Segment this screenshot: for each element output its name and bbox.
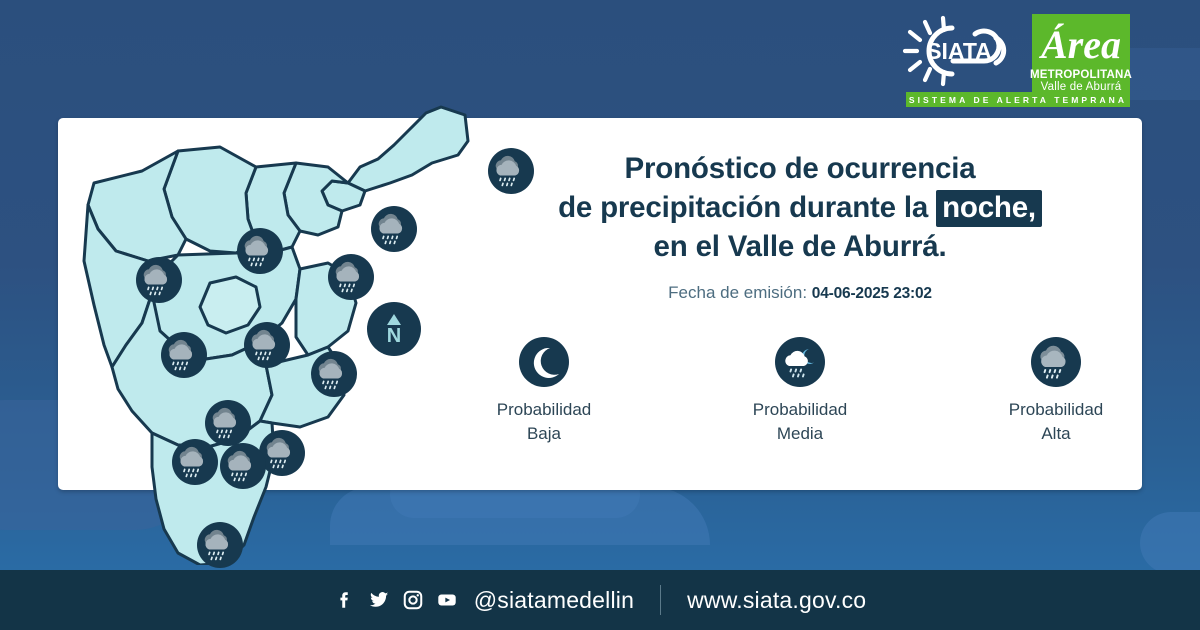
website-url[interactable]: www.siata.gov.co — [687, 587, 866, 614]
legend-item-baja: Probabilidad Baja — [470, 337, 618, 446]
map-marker-sabaneta[interactable] — [172, 439, 218, 485]
legend-label-alta: Probabilidad Alta — [1009, 398, 1104, 446]
legend-item-media: Probabilidad Media — [726, 337, 874, 446]
legend-alta-line2: Alta — [1009, 422, 1104, 446]
area-metropolitana-logo: Área METROPOLITANA Valle de Aburrá — [1032, 14, 1130, 100]
probability-legend: Probabilidad Baja — [470, 337, 1130, 446]
page-title: Pronóstico de ocurrencia de precipitació… — [470, 150, 1130, 267]
compass-label: N — [387, 325, 401, 347]
map-marker-caldas[interactable] — [197, 522, 243, 568]
social-links[interactable] — [334, 589, 458, 611]
area-logo-line1: METROPOLITANA — [1030, 70, 1132, 82]
map-marker-san-jeronimo[interactable] — [161, 332, 207, 378]
facebook-icon[interactable] — [334, 589, 356, 611]
legend-baja-line1: Probabilidad — [497, 398, 592, 422]
background-cloud-right — [1140, 512, 1200, 574]
legend-media-line2: Media — [753, 422, 848, 446]
legend-item-alta: Probabilidad Alta — [982, 337, 1130, 446]
title-line-1: Pronóstico de ocurrencia — [470, 150, 1130, 189]
footer-divider — [660, 585, 661, 615]
twitter-icon[interactable] — [368, 589, 390, 611]
sun-cloud-icon: SIATA — [897, 14, 1022, 88]
map-marker-san-pedro[interactable] — [136, 257, 182, 303]
cloud-heavy-rain-icon — [1031, 337, 1081, 387]
legend-label-baja: Probabilidad Baja — [497, 398, 592, 446]
legend-alta-line1: Probabilidad — [1009, 398, 1104, 422]
compass-north-icon: N — [367, 302, 421, 356]
map-marker-medellin[interactable] — [244, 322, 290, 368]
map-marker-girardota[interactable] — [371, 206, 417, 252]
map-marker-bello[interactable] — [237, 228, 283, 274]
emission-date-value: 04-06-2025 23:02 — [812, 285, 932, 302]
footer-bar: @siatamedellin www.siata.gov.co — [0, 570, 1200, 630]
emission-date-label: Fecha de emisión: — [668, 283, 807, 302]
tagline-text: SISTEMA DE ALERTA TEMPRANA — [909, 95, 1127, 105]
forecast-content: Pronóstico de ocurrencia de precipitació… — [470, 150, 1130, 445]
youtube-icon[interactable] — [436, 589, 458, 611]
title-line-2-text: de precipitación durante la — [558, 191, 936, 224]
siata-logo: SIATA — [897, 14, 1022, 88]
map-marker-copacabana[interactable] — [328, 254, 374, 300]
social-handle[interactable]: @siatamedellin — [474, 587, 634, 614]
area-script-text: Área — [1039, 18, 1123, 70]
map-marker-sabaneta-2[interactable] — [220, 443, 266, 489]
legend-media-line1: Probabilidad — [753, 398, 848, 422]
tagline-banner: SISTEMA DE ALERTA TEMPRANA — [906, 92, 1130, 107]
valle-de-aburra-map: N — [60, 55, 480, 565]
title-line-3: en el Valle de Aburrá. — [470, 228, 1130, 267]
legend-label-media: Probabilidad Media — [753, 398, 848, 446]
moon-icon — [519, 337, 569, 387]
infographic-canvas: SIATA Área METROPOLITANA Valle de Aburrá… — [0, 0, 1200, 630]
title-highlight-noche: noche, — [936, 190, 1042, 227]
title-line-2: de precipitación durante la noche, — [470, 189, 1130, 228]
instagram-icon[interactable] — [402, 589, 424, 611]
legend-baja-line2: Baja — [497, 422, 592, 446]
brand-logos: SIATA Área METROPOLITANA Valle de Aburrá — [897, 14, 1130, 100]
emission-date: Fecha de emisión: 04-06-2025 23:02 — [470, 283, 1130, 303]
siata-logo-text: SIATA — [926, 38, 992, 64]
map-marker-envigado[interactable] — [311, 351, 357, 397]
svg-text:Área: Área — [1039, 22, 1121, 67]
cloud-rain-moon-icon — [775, 337, 825, 387]
